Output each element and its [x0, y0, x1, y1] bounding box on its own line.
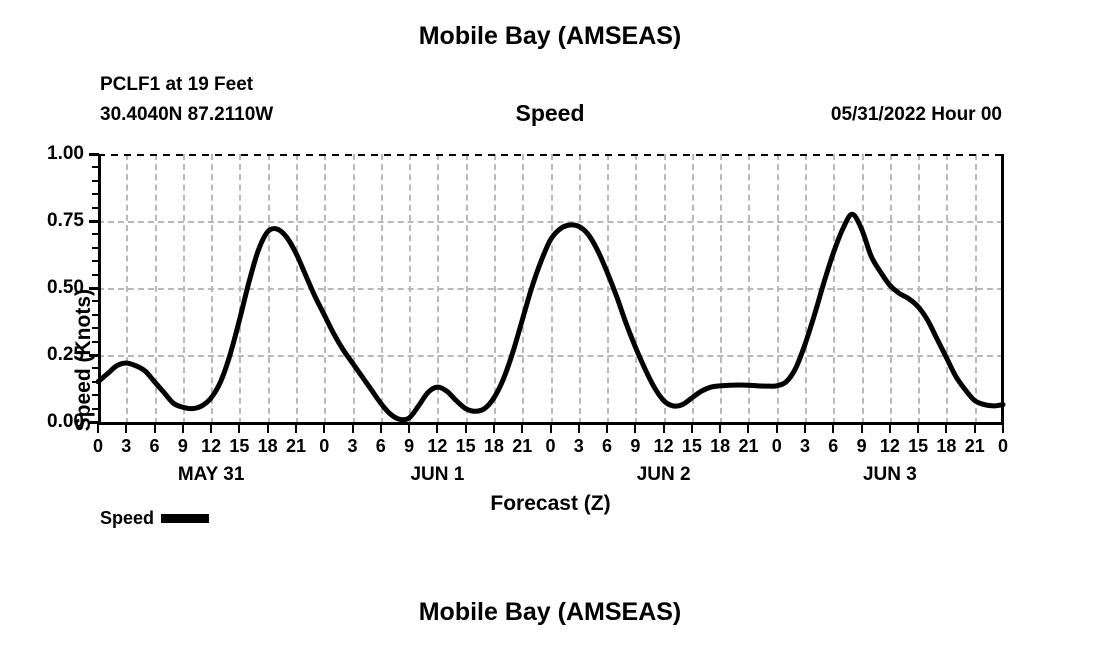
- x-tick: [465, 424, 467, 433]
- x-tick: [436, 424, 438, 433]
- series-path-speed: [98, 214, 1003, 419]
- x-tick: [776, 424, 778, 433]
- x-tick: [210, 424, 212, 433]
- x-axis-day-label: JUN 2: [637, 464, 691, 486]
- model-run-timestamp: 05/31/2022 Hour 00: [831, 104, 1002, 126]
- x-tick: [521, 424, 523, 433]
- x-tick: [917, 424, 919, 433]
- x-tick-label: 15: [456, 436, 476, 457]
- x-tick-label: 6: [828, 436, 838, 457]
- y-tick-label: 0.75: [47, 210, 84, 232]
- x-tick-label: 3: [800, 436, 810, 457]
- x-tick: [408, 424, 410, 433]
- x-tick: [182, 424, 184, 433]
- x-tick: [1002, 424, 1004, 433]
- x-tick-label: 12: [427, 436, 447, 457]
- x-tick-label: 0: [772, 436, 782, 457]
- x-tick: [974, 424, 976, 433]
- x-tick: [747, 424, 749, 433]
- x-tick-label: 12: [880, 436, 900, 457]
- x-tick: [125, 424, 127, 433]
- x-tick: [663, 424, 665, 433]
- x-tick-label: 0: [93, 436, 103, 457]
- x-axis-day-label: MAY 31: [178, 464, 245, 486]
- x-tick-label: 6: [376, 436, 386, 457]
- x-tick: [97, 424, 99, 433]
- x-tick-label: 15: [229, 436, 249, 457]
- x-tick: [804, 424, 806, 433]
- x-tick-label: 3: [574, 436, 584, 457]
- x-tick-label: 0: [319, 436, 329, 457]
- station-label: PCLF1 at 19 Feet: [100, 74, 253, 96]
- x-tick: [691, 424, 693, 433]
- x-tick: [550, 424, 552, 433]
- x-tick-label: 21: [286, 436, 306, 457]
- x-tick: [154, 424, 156, 433]
- x-tick: [295, 424, 297, 433]
- page-title-top: Mobile Bay (AMSEAS): [0, 22, 1100, 51]
- x-tick: [578, 424, 580, 433]
- x-tick-label: 0: [545, 436, 555, 457]
- x-tick: [861, 424, 863, 433]
- x-tick-label: 3: [348, 436, 358, 457]
- chart-plot-area: 0.000.250.500.751.00 0369121518210369121…: [98, 154, 1003, 424]
- x-tick-label: 21: [738, 436, 758, 457]
- x-tick: [267, 424, 269, 433]
- x-tick-label: 12: [654, 436, 674, 457]
- x-tick-label: 3: [121, 436, 131, 457]
- x-axis-day-label: JUN 1: [410, 464, 464, 486]
- x-tick-label: 21: [965, 436, 985, 457]
- x-tick-label: 12: [201, 436, 221, 457]
- x-tick: [238, 424, 240, 433]
- x-tick: [352, 424, 354, 433]
- x-tick-label: 9: [178, 436, 188, 457]
- x-tick: [323, 424, 325, 433]
- x-tick: [606, 424, 608, 433]
- y-axis-title: Speed (Knots): [72, 289, 96, 431]
- x-tick: [493, 424, 495, 433]
- x-axis-day-label: JUN 3: [863, 464, 917, 486]
- x-tick-label: 9: [857, 436, 867, 457]
- x-tick-label: 9: [404, 436, 414, 457]
- x-tick: [634, 424, 636, 433]
- page-title-bottom: Mobile Bay (AMSEAS): [0, 598, 1100, 627]
- x-tick-label: 6: [150, 436, 160, 457]
- x-tick-label: 6: [602, 436, 612, 457]
- y-tick-label: 1.00: [47, 143, 84, 165]
- x-tick-label: 15: [682, 436, 702, 457]
- x-tick-label: 9: [630, 436, 640, 457]
- x-tick-label: 18: [484, 436, 504, 457]
- x-tick-label: 18: [936, 436, 956, 457]
- x-axis-title: Forecast (Z): [98, 492, 1003, 516]
- legend-line-swatch: [161, 514, 209, 523]
- x-tick-label: 15: [908, 436, 928, 457]
- chart-legend: Speed: [100, 508, 209, 529]
- x-tick: [719, 424, 721, 433]
- x-tick: [945, 424, 947, 433]
- x-tick-label: 21: [512, 436, 532, 457]
- x-tick-label: 18: [258, 436, 278, 457]
- x-tick-label: 0: [998, 436, 1008, 457]
- speed-series-line: [98, 154, 1004, 425]
- x-tick: [380, 424, 382, 433]
- x-tick: [889, 424, 891, 433]
- x-tick: [832, 424, 834, 433]
- x-tick-label: 18: [710, 436, 730, 457]
- legend-entry-label: Speed: [100, 508, 154, 529]
